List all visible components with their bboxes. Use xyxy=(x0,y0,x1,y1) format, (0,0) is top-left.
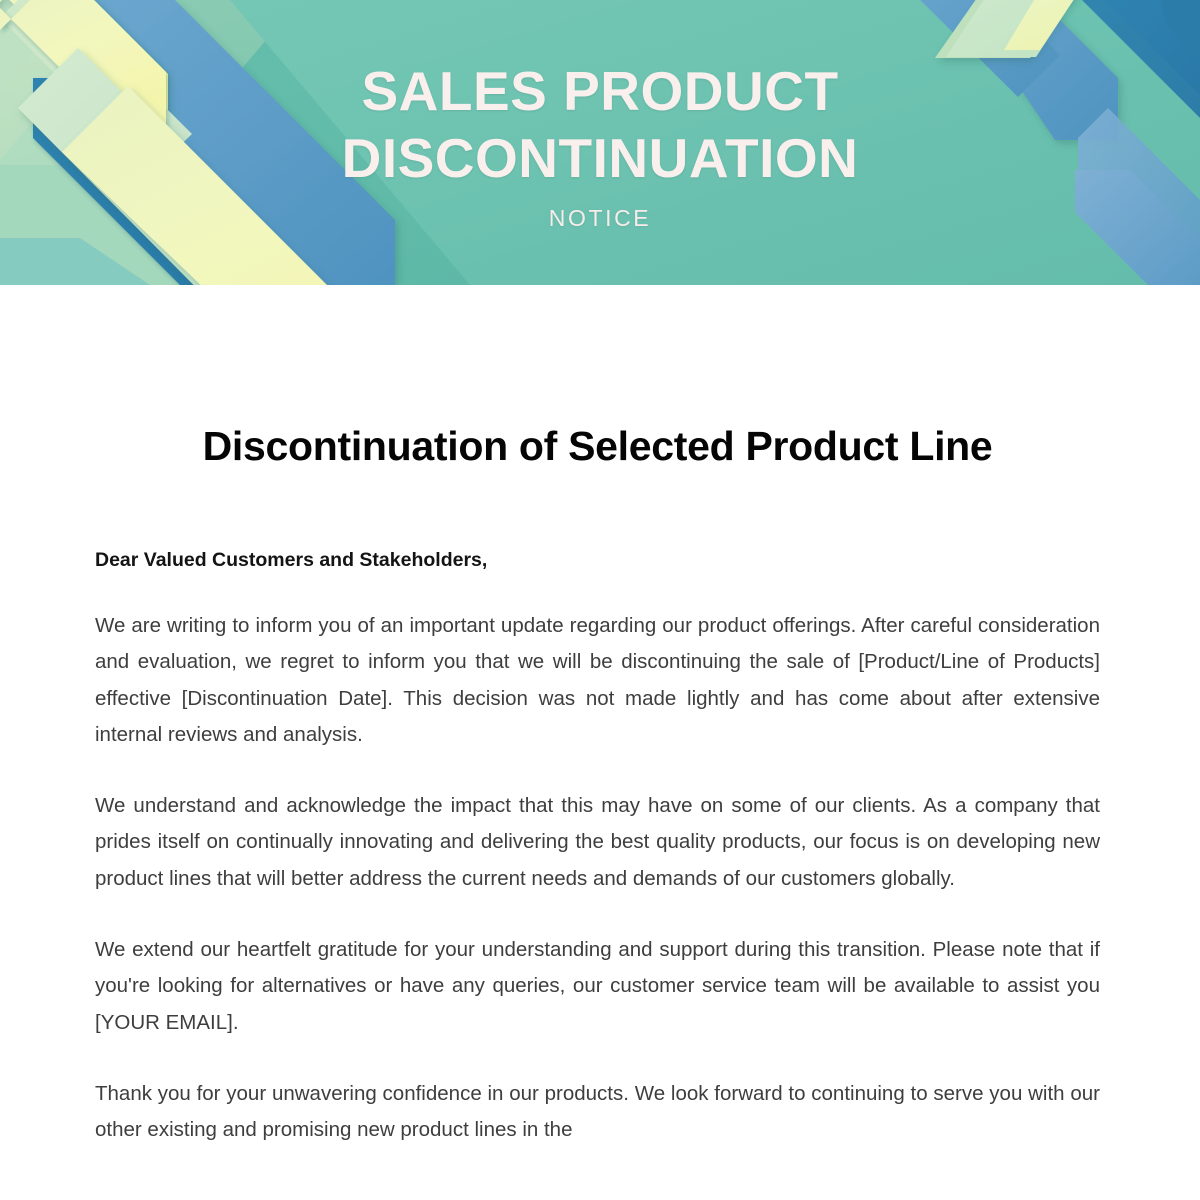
banner-title: SALES PRODUCT DISCONTINUATION xyxy=(0,58,1200,192)
banner-title-line-1: SALES PRODUCT xyxy=(361,60,838,122)
document-body: Discontinuation of Selected Product Line… xyxy=(0,285,1200,1149)
body-paragraph-2: We understand and acknowledge the impact… xyxy=(95,753,1100,897)
banner-subtitle: NOTICE xyxy=(0,205,1200,232)
body-paragraph-4: Thank you for your unwavering confidence… xyxy=(95,1041,1100,1149)
body-paragraph-3: We extend our heartfelt gratitude for yo… xyxy=(95,897,1100,1041)
body-paragraph-1: We are writing to inform you of an impor… xyxy=(95,573,1100,753)
document-heading: Discontinuation of Selected Product Line xyxy=(95,285,1100,470)
document-header-banner: SALES PRODUCT DISCONTINUATION NOTICE xyxy=(0,0,1200,285)
banner-title-line-2: DISCONTINUATION xyxy=(342,127,859,189)
salutation: Dear Valued Customers and Stakeholders, xyxy=(95,470,1100,573)
banner-title-block: SALES PRODUCT DISCONTINUATION NOTICE xyxy=(0,58,1200,232)
